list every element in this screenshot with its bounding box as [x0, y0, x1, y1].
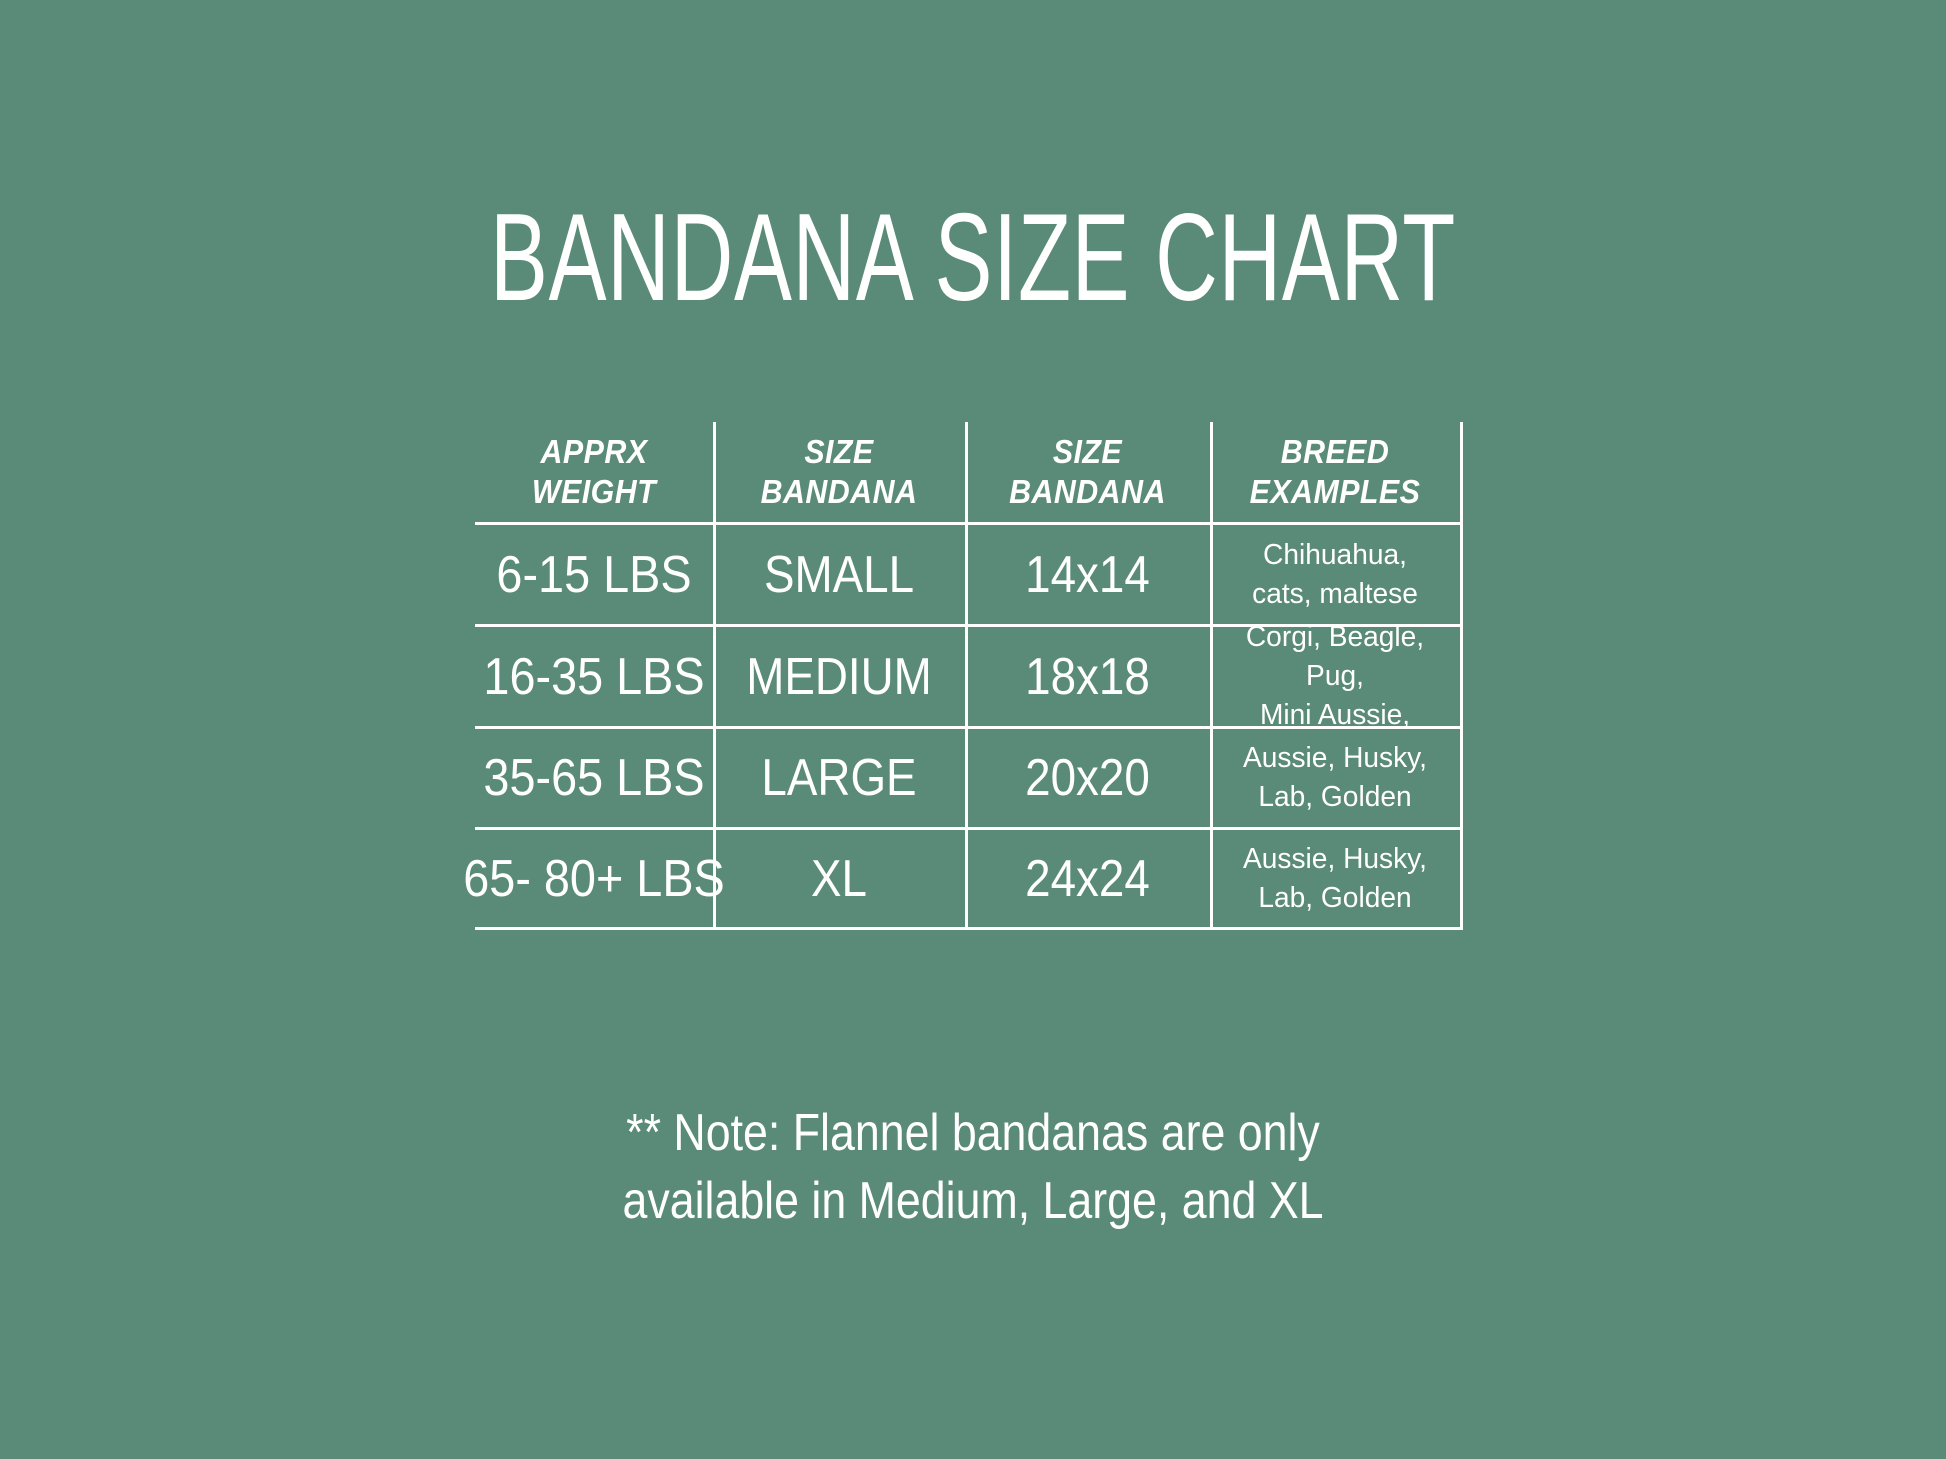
table-row: 16-35 LBS MEDIUM 18x18 Corgi, Beagle, Pu… — [475, 627, 1463, 726]
cell-breeds: Corgi, Beagle, Pug, Mini Aussie, — [1214, 627, 1457, 726]
cell-size: MEDIUM — [728, 627, 950, 726]
cell-breeds: Chihuahua, cats, maltese — [1214, 525, 1457, 624]
cell-size: LARGE — [728, 729, 950, 827]
row-divider-5 — [475, 927, 1463, 930]
table-row: 6-15 LBS SMALL 14x14 Chihuahua, cats, ma… — [475, 525, 1463, 624]
cell-weight: 6-15 LBS — [487, 525, 701, 624]
flannel-availability-note: ** Note: Flannel bandanas are only avail… — [136, 1100, 1810, 1235]
cell-dimensions: 20x20 — [980, 729, 1196, 827]
cell-weight: 16-35 LBS — [487, 627, 701, 726]
table-header-row: APPRX WEIGHT SIZE BANDANA SIZE BANDANA B… — [475, 422, 1463, 522]
size-chart-table: APPRX WEIGHT SIZE BANDANA SIZE BANDANA B… — [475, 422, 1463, 930]
size-chart-page: BANDANA SIZE CHART APPRX WEIGHT SIZE BAN… — [0, 0, 1946, 1459]
header-cell-size-bandana: SIZE BANDANA — [723, 422, 955, 522]
table-row: 65- 80+ LBS XL 24x24 Aussie, Husky, Lab,… — [475, 830, 1463, 927]
cell-size: XL — [728, 830, 950, 927]
cell-dimensions: 24x24 — [980, 830, 1196, 927]
header-cell-apprx-weight: APPRX WEIGHT — [485, 422, 704, 522]
cell-breeds: Aussie, Husky, Lab, Golden — [1214, 729, 1457, 827]
cell-breeds: Aussie, Husky, Lab, Golden — [1214, 830, 1457, 927]
cell-weight: 65- 80+ LBS — [487, 830, 701, 927]
header-cell-size-dimensions: SIZE BANDANA — [975, 422, 1200, 522]
table-row: 35-65 LBS LARGE 20x20 Aussie, Husky, Lab… — [475, 729, 1463, 827]
cell-size: SMALL — [728, 525, 950, 624]
cell-dimensions: 14x14 — [980, 525, 1196, 624]
cell-weight: 35-65 LBS — [487, 729, 701, 827]
cell-dimensions: 18x18 — [980, 627, 1196, 726]
page-title: BANDANA SIZE CHART — [292, 196, 1654, 320]
header-cell-breed-examples: BREED EXAMPLES — [1220, 422, 1450, 522]
